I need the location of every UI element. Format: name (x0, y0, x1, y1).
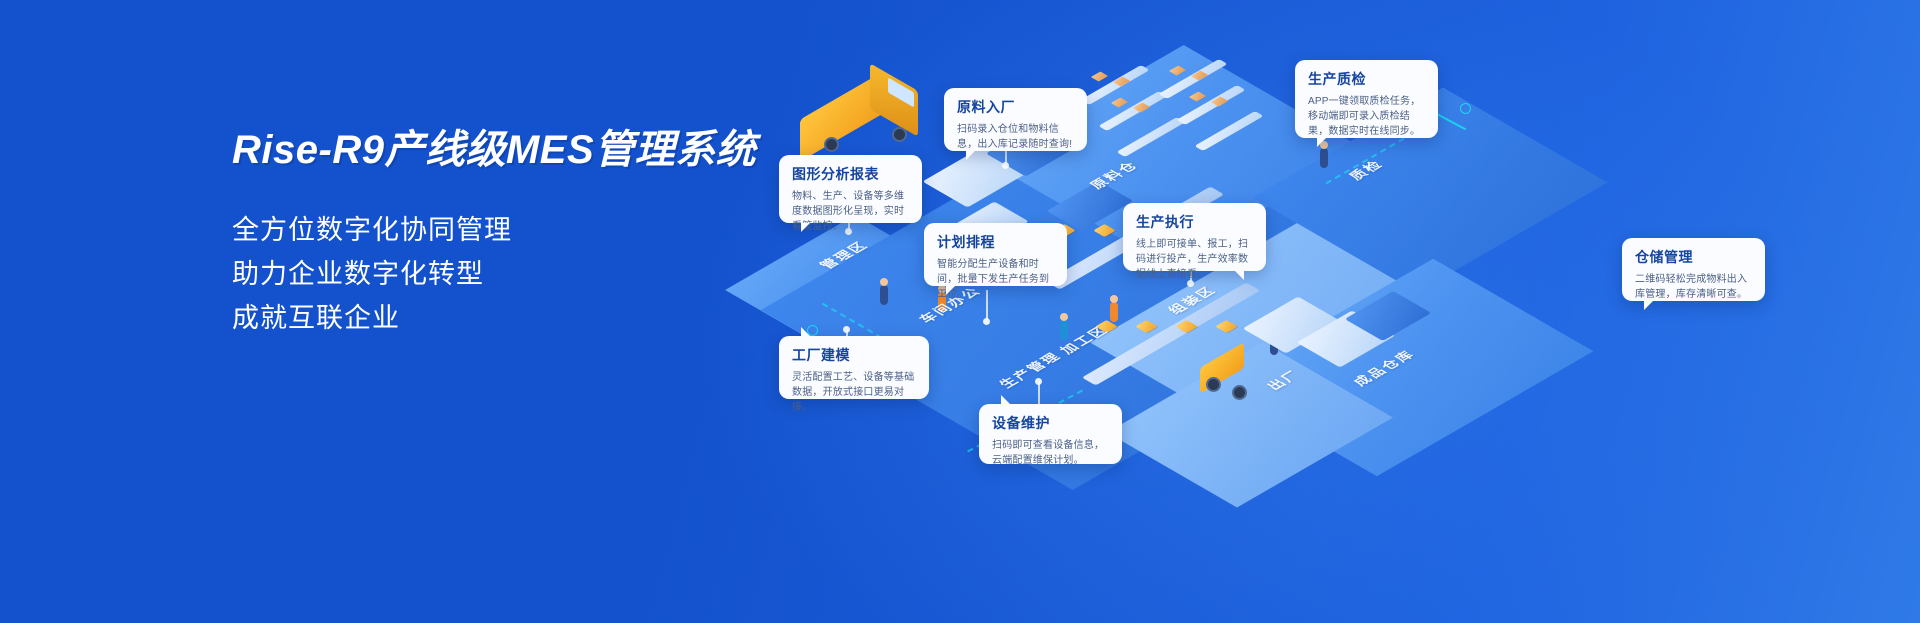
card-title-production-execution: 生产执行 (1136, 214, 1253, 231)
worker-4 (1110, 302, 1118, 322)
worker-5 (1320, 148, 1328, 168)
callout-card-production-execution[interactable]: 生产执行 线上即可接单、报工，扫码进行投产，生产效率数据线上直接看。 (1123, 203, 1266, 271)
forklift-wheel-2 (1232, 385, 1247, 400)
card-body-material-inbound: 扫码录入仓位和物料信息，出入库记录随时查询! (957, 122, 1074, 152)
leader-dot-modeling (843, 326, 850, 333)
card-tail-equipment-maintenance (1001, 395, 1010, 404)
callout-card-material-inbound[interactable]: 原料入厂 扫码录入仓位和物料信息，出入库记录随时查询! (944, 88, 1087, 151)
callout-card-plan-scheduling[interactable]: 计划排程 智能分配生产设备和时间，批量下发生产任务到工位。 (924, 223, 1067, 286)
callout-card-warehouse-management[interactable]: 仓储管理 二维码轻松完成物料出入库管理，库存清晰可查。 (1622, 238, 1765, 301)
worker-1 (880, 285, 888, 305)
card-body-quality-inspection: APP一键领取质检任务，移动端即可录入质检结果，数据实时在线同步。 (1308, 94, 1425, 139)
card-body-equipment-maintenance: 扫码即可查看设备信息，云端配置维保计划。 (992, 438, 1109, 468)
card-title-material-inbound: 原料入厂 (957, 99, 1074, 116)
forklift-wheel (1206, 377, 1221, 392)
callout-card-equipment-maintenance[interactable]: 设备维护 扫码即可查看设备信息，云端配置维保计划。 (979, 404, 1122, 464)
card-tail-warehouse-management (1644, 301, 1653, 310)
callout-card-factory-modeling[interactable]: 工厂建模 灵活配置工艺、设备等基础数据，开放式接口更易对接。 (779, 336, 929, 399)
card-tail-plan-scheduling (946, 286, 955, 295)
callout-card-quality-inspection[interactable]: 生产质检 APP一键领取质检任务，移动端即可录入质检结果，数据实时在线同步。 (1295, 60, 1438, 138)
worker-4-head (1110, 295, 1118, 303)
mes-hero-banner: Rise-R9产线级MES管理系统 全方位数字化协同管理 助力企业数字化转型 成… (0, 0, 1920, 623)
leader-dot-plan (983, 318, 990, 325)
rack-carton-1 (1091, 72, 1108, 82)
worker-3-head (1060, 313, 1068, 321)
card-tail-graphic-report (801, 223, 810, 232)
card-tail-material-inbound (966, 151, 975, 160)
card-title-warehouse-management: 仓储管理 (1635, 249, 1752, 266)
card-title-equipment-maintenance: 设备维护 (992, 415, 1109, 432)
card-tail-quality-inspection (1317, 138, 1326, 147)
callout-card-graphic-report[interactable]: 图形分析报表 物料、生产、设备等多维度数据图形化呈现，实时看管监控。 (779, 155, 922, 223)
tech-node-top (1460, 103, 1471, 114)
card-title-plan-scheduling: 计划排程 (937, 234, 1054, 251)
card-tail-production-execution (1235, 271, 1244, 280)
card-body-warehouse-management: 二维码轻松完成物料出入库管理，库存清晰可查。 (1635, 272, 1752, 302)
card-title-quality-inspection: 生产质检 (1308, 71, 1425, 88)
leader-dot-maintenance (1035, 378, 1042, 385)
card-body-plan-scheduling: 智能分配生产设备和时间，批量下发生产任务到工位。 (937, 257, 1054, 302)
card-title-factory-modeling: 工厂建模 (792, 347, 916, 364)
worker-3 (1060, 320, 1068, 340)
truck-wheel-front (892, 127, 907, 142)
card-body-factory-modeling: 灵活配置工艺、设备等基础数据，开放式接口更易对接。 (792, 370, 916, 415)
leader-dot-inbound (1002, 162, 1009, 169)
card-title-graphic-report: 图形分析报表 (792, 166, 909, 183)
card-tail-factory-modeling (801, 327, 810, 336)
worker-1-head (880, 278, 888, 286)
truck-wheel-rear (824, 137, 839, 152)
leader-line-maintenance (1038, 382, 1040, 404)
